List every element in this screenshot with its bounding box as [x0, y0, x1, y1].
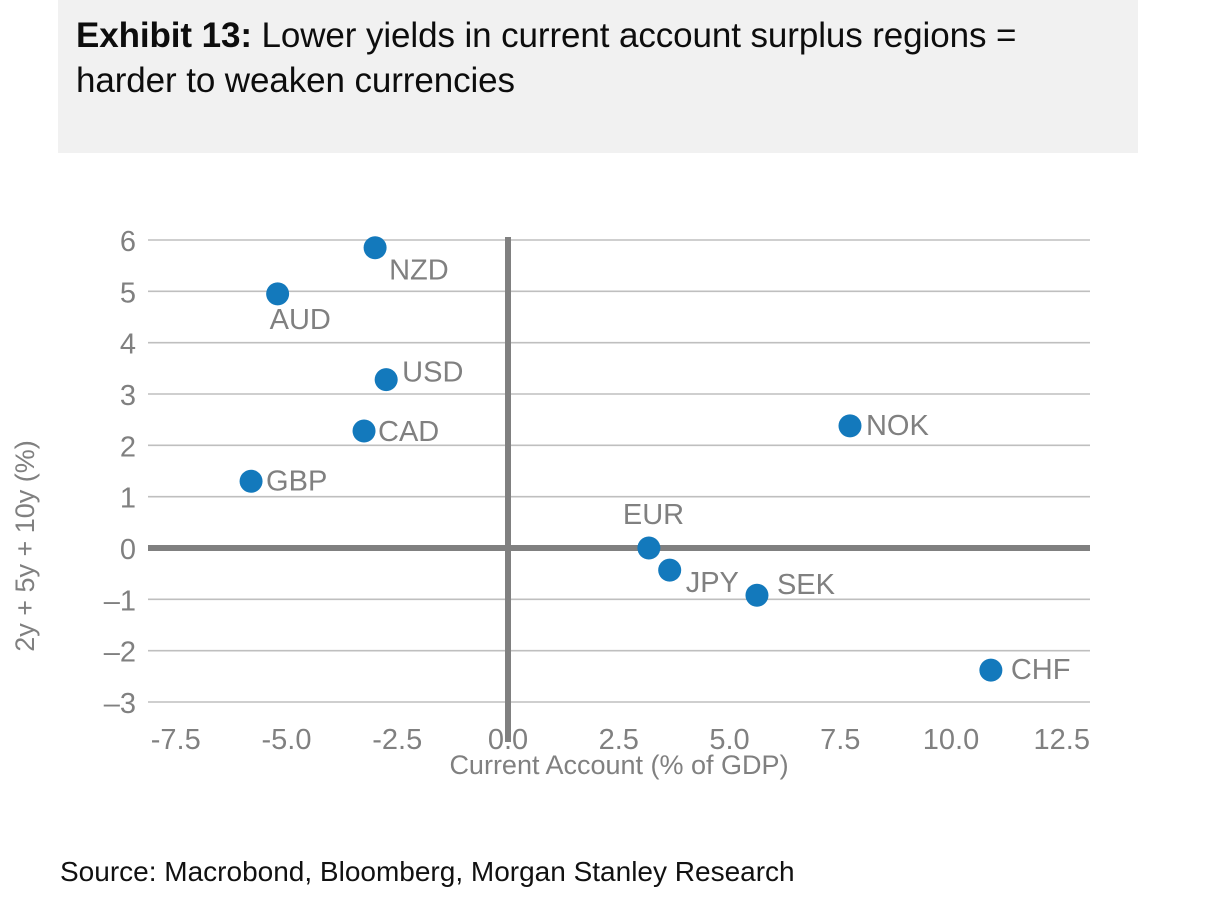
marker-gbp[interactable] [240, 470, 263, 493]
x-tick-label-12-5: 12.5 [1034, 724, 1090, 756]
point-label-jpy: JPY [686, 567, 739, 599]
y-tick-label-1: 1 [120, 483, 136, 515]
point-label-usd: USD [402, 357, 463, 389]
marker-sek[interactable] [745, 584, 768, 607]
point-label-sek: SEK [777, 569, 836, 601]
y-tick-label-4: 4 [120, 329, 136, 361]
y-axis-tick-labels: 6543210–1–2–3 [104, 226, 136, 720]
marker-cad[interactable] [353, 419, 376, 442]
marker-aud[interactable] [266, 282, 289, 305]
y-tick-label-2: 2 [120, 431, 136, 463]
data-point-cad[interactable]: CAD [353, 416, 440, 448]
marker-nzd[interactable] [364, 236, 387, 259]
exhibit-header-band: Exhibit 13: Lower yields in current acco… [58, 0, 1138, 153]
point-label-aud: AUD [270, 304, 331, 336]
data-point-gbp[interactable]: GBP [240, 465, 328, 497]
data-point-aud[interactable]: AUD [266, 282, 331, 336]
point-label-eur: EUR [623, 499, 684, 531]
marker-nok[interactable] [838, 414, 861, 437]
point-label-gbp: GBP [266, 465, 327, 497]
point-label-nok: NOK [866, 410, 930, 442]
y-tick-label--2: –2 [104, 637, 136, 669]
marker-usd[interactable] [375, 368, 398, 391]
y-tick-label--3: –3 [104, 688, 136, 720]
point-label-chf: CHF [1011, 654, 1071, 686]
point-label-nzd: NZD [389, 255, 449, 287]
y-axis-title: 2y + 5y + 10y (%) [10, 440, 40, 652]
x-tick-label-10: 10.0 [923, 724, 979, 756]
y-tick-label--1: –1 [104, 585, 136, 617]
exhibit-number-label: Exhibit 13: [76, 16, 252, 55]
data-point-chf[interactable]: CHF [979, 654, 1070, 686]
data-point-nzd[interactable]: NZD [364, 236, 449, 287]
x-tick-label--5: -5.0 [262, 724, 312, 756]
data-point-sek[interactable]: SEK [745, 569, 835, 607]
source-note: Source: Macrobond, Bloomberg, Morgan Sta… [60, 856, 795, 888]
x-tick-label--2-5: -2.5 [372, 724, 422, 756]
y-tick-label-3: 3 [120, 380, 136, 412]
y-tick-label-6: 6 [120, 226, 136, 258]
data-point-jpy[interactable]: JPY [658, 559, 739, 600]
point-label-cad: CAD [378, 416, 439, 448]
x-tick-label--7-5: -7.5 [151, 724, 201, 756]
scatter-chart: 6543210–1–2–3 -7.5-5.0-2.50.02.55.07.510… [0, 153, 1218, 833]
chart-canvas: 6543210–1–2–3 -7.5-5.0-2.50.02.55.07.510… [0, 153, 1218, 833]
data-point-nok[interactable]: NOK [838, 410, 929, 442]
y-tick-label-0: 0 [120, 534, 136, 566]
marker-chf[interactable] [979, 659, 1002, 682]
page-title: Exhibit 13: Lower yields in current acco… [76, 14, 1120, 104]
marker-eur[interactable] [637, 537, 660, 560]
x-axis-title: Current Account (% of GDP) [449, 750, 788, 780]
x-tick-label-7-5: 7.5 [820, 724, 860, 756]
data-point-usd[interactable]: USD [375, 357, 464, 392]
marker-jpy[interactable] [658, 559, 681, 582]
y-tick-label-5: 5 [120, 277, 136, 309]
data-points: NZDAUDUSDCADNOKGBPEURJPYSEKCHF [240, 236, 1071, 686]
